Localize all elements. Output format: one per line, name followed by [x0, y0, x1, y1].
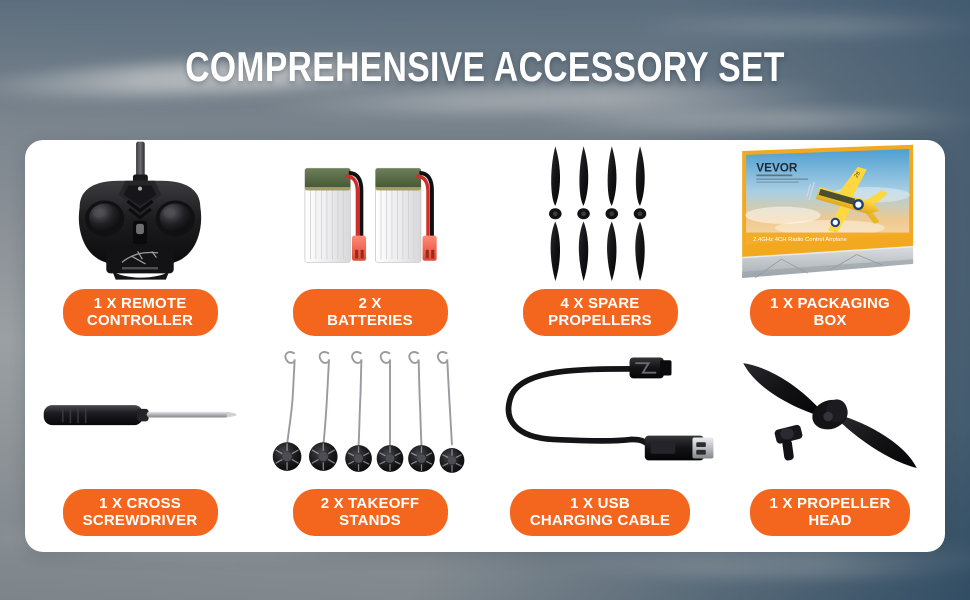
accessory-item-takeoff-stands[interactable]: 2 X TAKEOFF STANDS — [255, 346, 485, 552]
accessory-label: 1 X PACKAGING BOX — [750, 289, 910, 336]
accessory-label: 4 X SPARE PROPELLERS — [523, 289, 678, 336]
accessory-item-usb-charging-cable[interactable]: 1 X USB CHARGING CABLE — [485, 346, 715, 552]
accessory-label: 2 X TAKEOFF STANDS — [293, 489, 448, 536]
accessory-label: 1 X CROSS SCREWDRIVER — [63, 489, 218, 536]
packaging-box-caption: 2.4GHz 4CH Radio Control Airplane — [753, 237, 847, 243]
packaging-box-image: 28 2.4GHz 4CH Radio Control Airplane VEV… — [715, 140, 945, 289]
screwdriver-image — [25, 346, 255, 489]
cloud-streak — [520, 108, 970, 130]
accessory-label: 1 X PROPELLER HEAD — [750, 489, 911, 536]
page-title: COMPREHENSIVE ACCESSORY SET — [97, 44, 873, 90]
accessory-item-packaging-box[interactable]: 28 2.4GHz 4CH Radio Control Airplane VEV… — [715, 140, 945, 346]
accessory-item-cross-screwdriver[interactable]: 1 X CROSS SCREWDRIVER — [25, 346, 255, 552]
accessory-item-batteries[interactable]: 2 X BATTERIES — [255, 140, 485, 346]
accessory-card: 1 X REMOTE CONTROLLER — [25, 140, 945, 552]
usb-cable-image — [485, 346, 715, 489]
accessory-label: 1 X USB CHARGING CABLE — [510, 489, 690, 536]
accessory-label: 1 X REMOTE CONTROLLER — [63, 289, 218, 336]
accessory-item-propeller-head[interactable]: 1 X PROPELLER HEAD — [715, 346, 945, 552]
remote-controller-image — [25, 140, 255, 289]
spare-propellers-image — [485, 140, 715, 289]
accessory-label: 2 X BATTERIES — [293, 289, 448, 336]
takeoff-stands-image — [255, 346, 485, 489]
batteries-image — [255, 140, 485, 289]
packaging-box-brand: VEVOR — [756, 161, 798, 174]
accessory-item-remote-controller[interactable]: 1 X REMOTE CONTROLLER — [25, 140, 255, 346]
accessory-grid: 1 X REMOTE CONTROLLER — [25, 140, 945, 552]
propeller-head-image — [715, 346, 945, 489]
accessory-item-spare-propellers[interactable]: 4 X SPARE PROPELLERS — [485, 140, 715, 346]
